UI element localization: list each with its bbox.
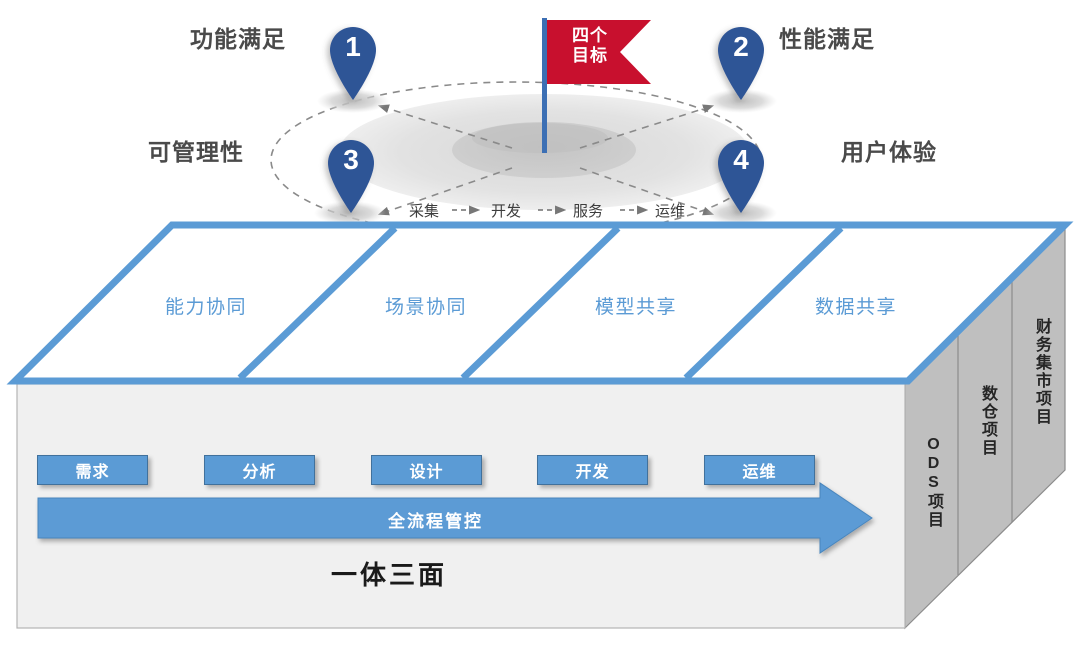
flow-step-1: 采集 — [409, 200, 439, 221]
pin-number-1: 1 — [330, 31, 376, 63]
goal-label-2: 性能满足 — [779, 26, 875, 52]
pin-number-4: 4 — [718, 144, 764, 176]
diagram-bottom-title: 一体三面 — [331, 555, 447, 592]
top-panel-label-3[interactable]: 模型共享 — [595, 292, 677, 319]
top-panel-label-4[interactable]: 数据共享 — [815, 292, 897, 319]
side-panel-label-dw[interactable]: 数仓项目 — [975, 385, 999, 457]
island-center-shade — [472, 123, 608, 153]
side-panel-label-finance[interactable]: 财务集市项目 — [1029, 318, 1053, 426]
top-panel-label-1[interactable]: 能力协同 — [165, 292, 247, 319]
flag-pole — [542, 18, 547, 153]
top-panel-label-2[interactable]: 场景协同 — [385, 292, 467, 319]
goal-label-4: 用户体验 — [841, 139, 937, 165]
side-panel-label-ods[interactable]: ODS项目 — [921, 436, 945, 529]
goal-label-3: 可管理性 — [148, 139, 244, 165]
diagram-canvas: 功能满足 性能满足 可管理性 用户体验 1 2 3 4 四个 目标 采集 开发 … — [0, 0, 1080, 651]
process-button-requirement[interactable]: 需求 — [37, 455, 148, 485]
flow-step-2: 开发 — [491, 200, 521, 221]
flow-step-3: 服务 — [573, 200, 603, 221]
goal-label-1: 功能满足 — [190, 26, 286, 52]
process-button-operations[interactable]: 运维 — [704, 455, 815, 485]
diagram-vector-layer — [0, 0, 1080, 651]
process-button-design[interactable]: 设计 — [371, 455, 482, 485]
process-button-development[interactable]: 开发 — [537, 455, 648, 485]
process-button-analysis[interactable]: 分析 — [204, 455, 315, 485]
flow-step-4: 运维 — [655, 200, 685, 221]
flag-text-line-1: 四个 — [565, 26, 615, 45]
pin-number-2: 2 — [718, 31, 764, 63]
process-arrow-label: 全流程管控 — [388, 507, 483, 532]
flag-text-line-2: 目标 — [565, 46, 615, 65]
pin-number-3: 3 — [328, 144, 374, 176]
